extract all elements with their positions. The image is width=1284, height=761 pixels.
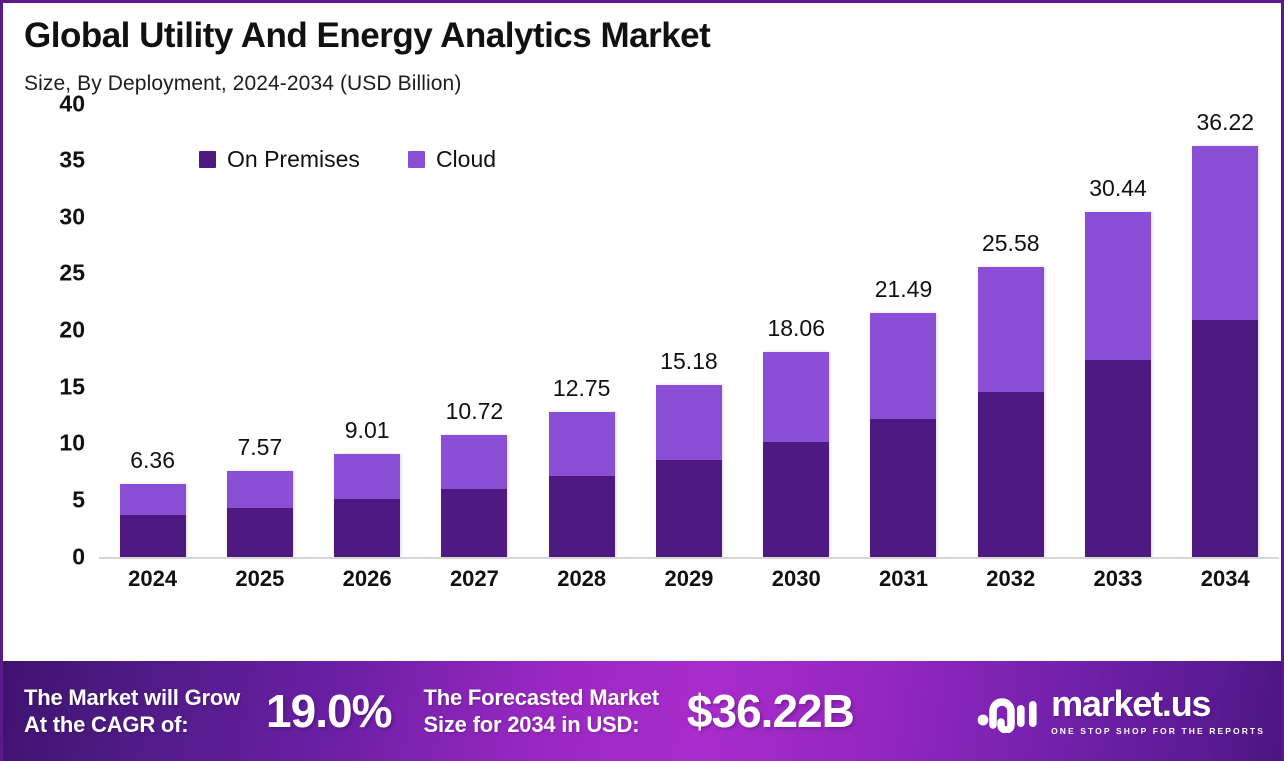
bar-value-label-2025: 7.57 (206, 434, 313, 461)
bar-value-label-2034: 36.22 (1172, 109, 1279, 136)
chart-subtitle: Size, By Deployment, 2024-2034 (USD Bill… (24, 72, 1281, 96)
bar-segment-cloud-2027[interactable] (441, 435, 507, 488)
legend-label-cloud: Cloud (436, 146, 496, 173)
x-tick-2027: 2027 (421, 566, 528, 592)
y-tick-40: 40 (59, 90, 85, 117)
x-tick-2025: 2025 (206, 566, 313, 592)
bar-value-label-2029: 15.18 (635, 348, 742, 375)
cagr-label-line2: At the CAGR of: (24, 711, 240, 739)
bar-segment-cloud-2031[interactable] (870, 313, 936, 419)
bar-group-2029[interactable]: 15.18 (635, 104, 742, 557)
bar-group-2032[interactable]: 25.58 (957, 104, 1064, 557)
bar-segment-cloud-2034[interactable] (1192, 146, 1258, 320)
chart-area: 0510152025303540 On Premises Cloud 6.367… (3, 104, 1284, 624)
bar-stack-2025[interactable] (227, 471, 293, 557)
logo-tagline: ONE STOP SHOP FOR THE REPORTS (1051, 726, 1265, 736)
bar-segment-cloud-2029[interactable] (656, 385, 722, 461)
legend-item-on-premises[interactable]: On Premises (199, 146, 360, 173)
x-tick-2028: 2028 (528, 566, 635, 592)
y-tick-35: 35 (59, 147, 85, 174)
market-us-logo[interactable]: market.us ONE STOP SHOP FOR THE REPORTS (977, 686, 1265, 736)
bar-segment-on-premises-2033[interactable] (1085, 360, 1151, 556)
bar-stack-2031[interactable] (870, 313, 936, 556)
y-tick-5: 5 (72, 486, 85, 513)
bar-stack-2024[interactable] (120, 484, 186, 556)
bar-stack-2034[interactable] (1192, 146, 1258, 556)
bar-value-label-2028: 12.75 (528, 375, 635, 402)
bar-stack-2030[interactable] (763, 352, 829, 557)
bar-stack-2026[interactable] (334, 454, 400, 556)
forecast-size-label-line2: Size for 2034 in USD: (423, 711, 658, 739)
bar-segment-on-premises-2025[interactable] (227, 508, 293, 557)
bar-segment-cloud-2028[interactable] (549, 412, 615, 475)
x-tick-2030: 2030 (743, 566, 850, 592)
bar-group-2034[interactable]: 36.22 (1172, 104, 1279, 557)
legend-label-on-premises: On Premises (227, 146, 360, 173)
bar-segment-on-premises-2029[interactable] (656, 460, 722, 556)
bar-segment-cloud-2026[interactable] (334, 454, 400, 499)
y-tick-20: 20 (59, 317, 85, 344)
bar-segment-on-premises-2031[interactable] (870, 419, 936, 556)
y-tick-25: 25 (59, 260, 85, 287)
bar-segment-cloud-2032[interactable] (978, 267, 1044, 392)
bar-stack-2032[interactable] (978, 267, 1044, 557)
bar-value-label-2033: 30.44 (1064, 175, 1171, 202)
bar-value-label-2032: 25.58 (957, 230, 1064, 257)
bar-group-2031[interactable]: 21.49 (850, 104, 957, 557)
bar-segment-on-premises-2024[interactable] (120, 515, 186, 556)
x-tick-2033: 2033 (1064, 566, 1171, 592)
page-title: Global Utility And Energy Analytics Mark… (24, 17, 1281, 56)
infographic-root: Global Utility And Energy Analytics Mark… (0, 0, 1284, 761)
x-axis: 2024202520262027202820292030203120322033… (99, 566, 1279, 592)
y-tick-10: 10 (59, 430, 85, 457)
x-tick-2034: 2034 (1172, 566, 1279, 592)
x-tick-2032: 2032 (957, 566, 1064, 592)
x-tick-2026: 2026 (314, 566, 421, 592)
legend-swatch-on-premises (199, 151, 216, 168)
chart-legend: On Premises Cloud (199, 146, 496, 173)
bar-value-label-2024: 6.36 (99, 447, 206, 474)
bar-value-label-2027: 10.72 (421, 398, 528, 425)
cagr-value: 19.0% (266, 684, 391, 738)
cagr-label-line1: The Market will Grow (24, 684, 240, 712)
legend-swatch-cloud (408, 151, 425, 168)
bar-group-2030[interactable]: 18.06 (743, 104, 850, 557)
bar-stack-2029[interactable] (656, 385, 722, 557)
bar-segment-on-premises-2027[interactable] (441, 489, 507, 557)
x-tick-2031: 2031 (850, 566, 957, 592)
forecast-size-label: The Forecasted Market Size for 2034 in U… (423, 684, 658, 739)
bar-segment-on-premises-2026[interactable] (334, 499, 400, 556)
y-tick-0: 0 (72, 543, 85, 570)
market-us-logo-icon (977, 689, 1039, 733)
bar-segment-cloud-2033[interactable] (1085, 212, 1151, 360)
bar-segment-on-premises-2034[interactable] (1192, 320, 1258, 556)
bar-segment-on-premises-2028[interactable] (549, 476, 615, 557)
bar-segment-cloud-2030[interactable] (763, 352, 829, 442)
y-axis: 0510152025303540 (3, 104, 95, 559)
bar-stack-2027[interactable] (441, 435, 507, 556)
x-axis-baseline (99, 557, 1279, 559)
bar-segment-cloud-2025[interactable] (227, 471, 293, 508)
bar-group-2033[interactable]: 30.44 (1064, 104, 1171, 557)
legend-item-cloud[interactable]: Cloud (408, 146, 496, 173)
bar-group-2024[interactable]: 6.36 (99, 104, 206, 557)
chart-header: Global Utility And Energy Analytics Mark… (3, 3, 1281, 96)
y-tick-30: 30 (59, 203, 85, 230)
logo-wordmark: market.us (1051, 686, 1265, 722)
bar-segment-on-premises-2032[interactable] (978, 392, 1044, 556)
forecast-size-value: $36.22B (687, 684, 854, 738)
bar-segment-on-premises-2030[interactable] (763, 442, 829, 557)
bar-value-label-2026: 9.01 (314, 417, 421, 444)
bar-stack-2028[interactable] (549, 412, 615, 556)
bar-segment-cloud-2024[interactable] (120, 484, 186, 515)
x-tick-2024: 2024 (99, 566, 206, 592)
forecast-size-label-line1: The Forecasted Market (423, 684, 658, 712)
market-us-logo-text: market.us ONE STOP SHOP FOR THE REPORTS (1051, 686, 1265, 736)
footer-banner: The Market will Grow At the CAGR of: 19.… (3, 661, 1281, 761)
cagr-label: The Market will Grow At the CAGR of: (24, 684, 240, 739)
bar-value-label-2031: 21.49 (850, 276, 957, 303)
bar-value-label-2030: 18.06 (743, 315, 850, 342)
x-tick-2029: 2029 (635, 566, 742, 592)
bar-stack-2033[interactable] (1085, 212, 1151, 557)
bar-group-2028[interactable]: 12.75 (528, 104, 635, 557)
y-tick-15: 15 (59, 373, 85, 400)
